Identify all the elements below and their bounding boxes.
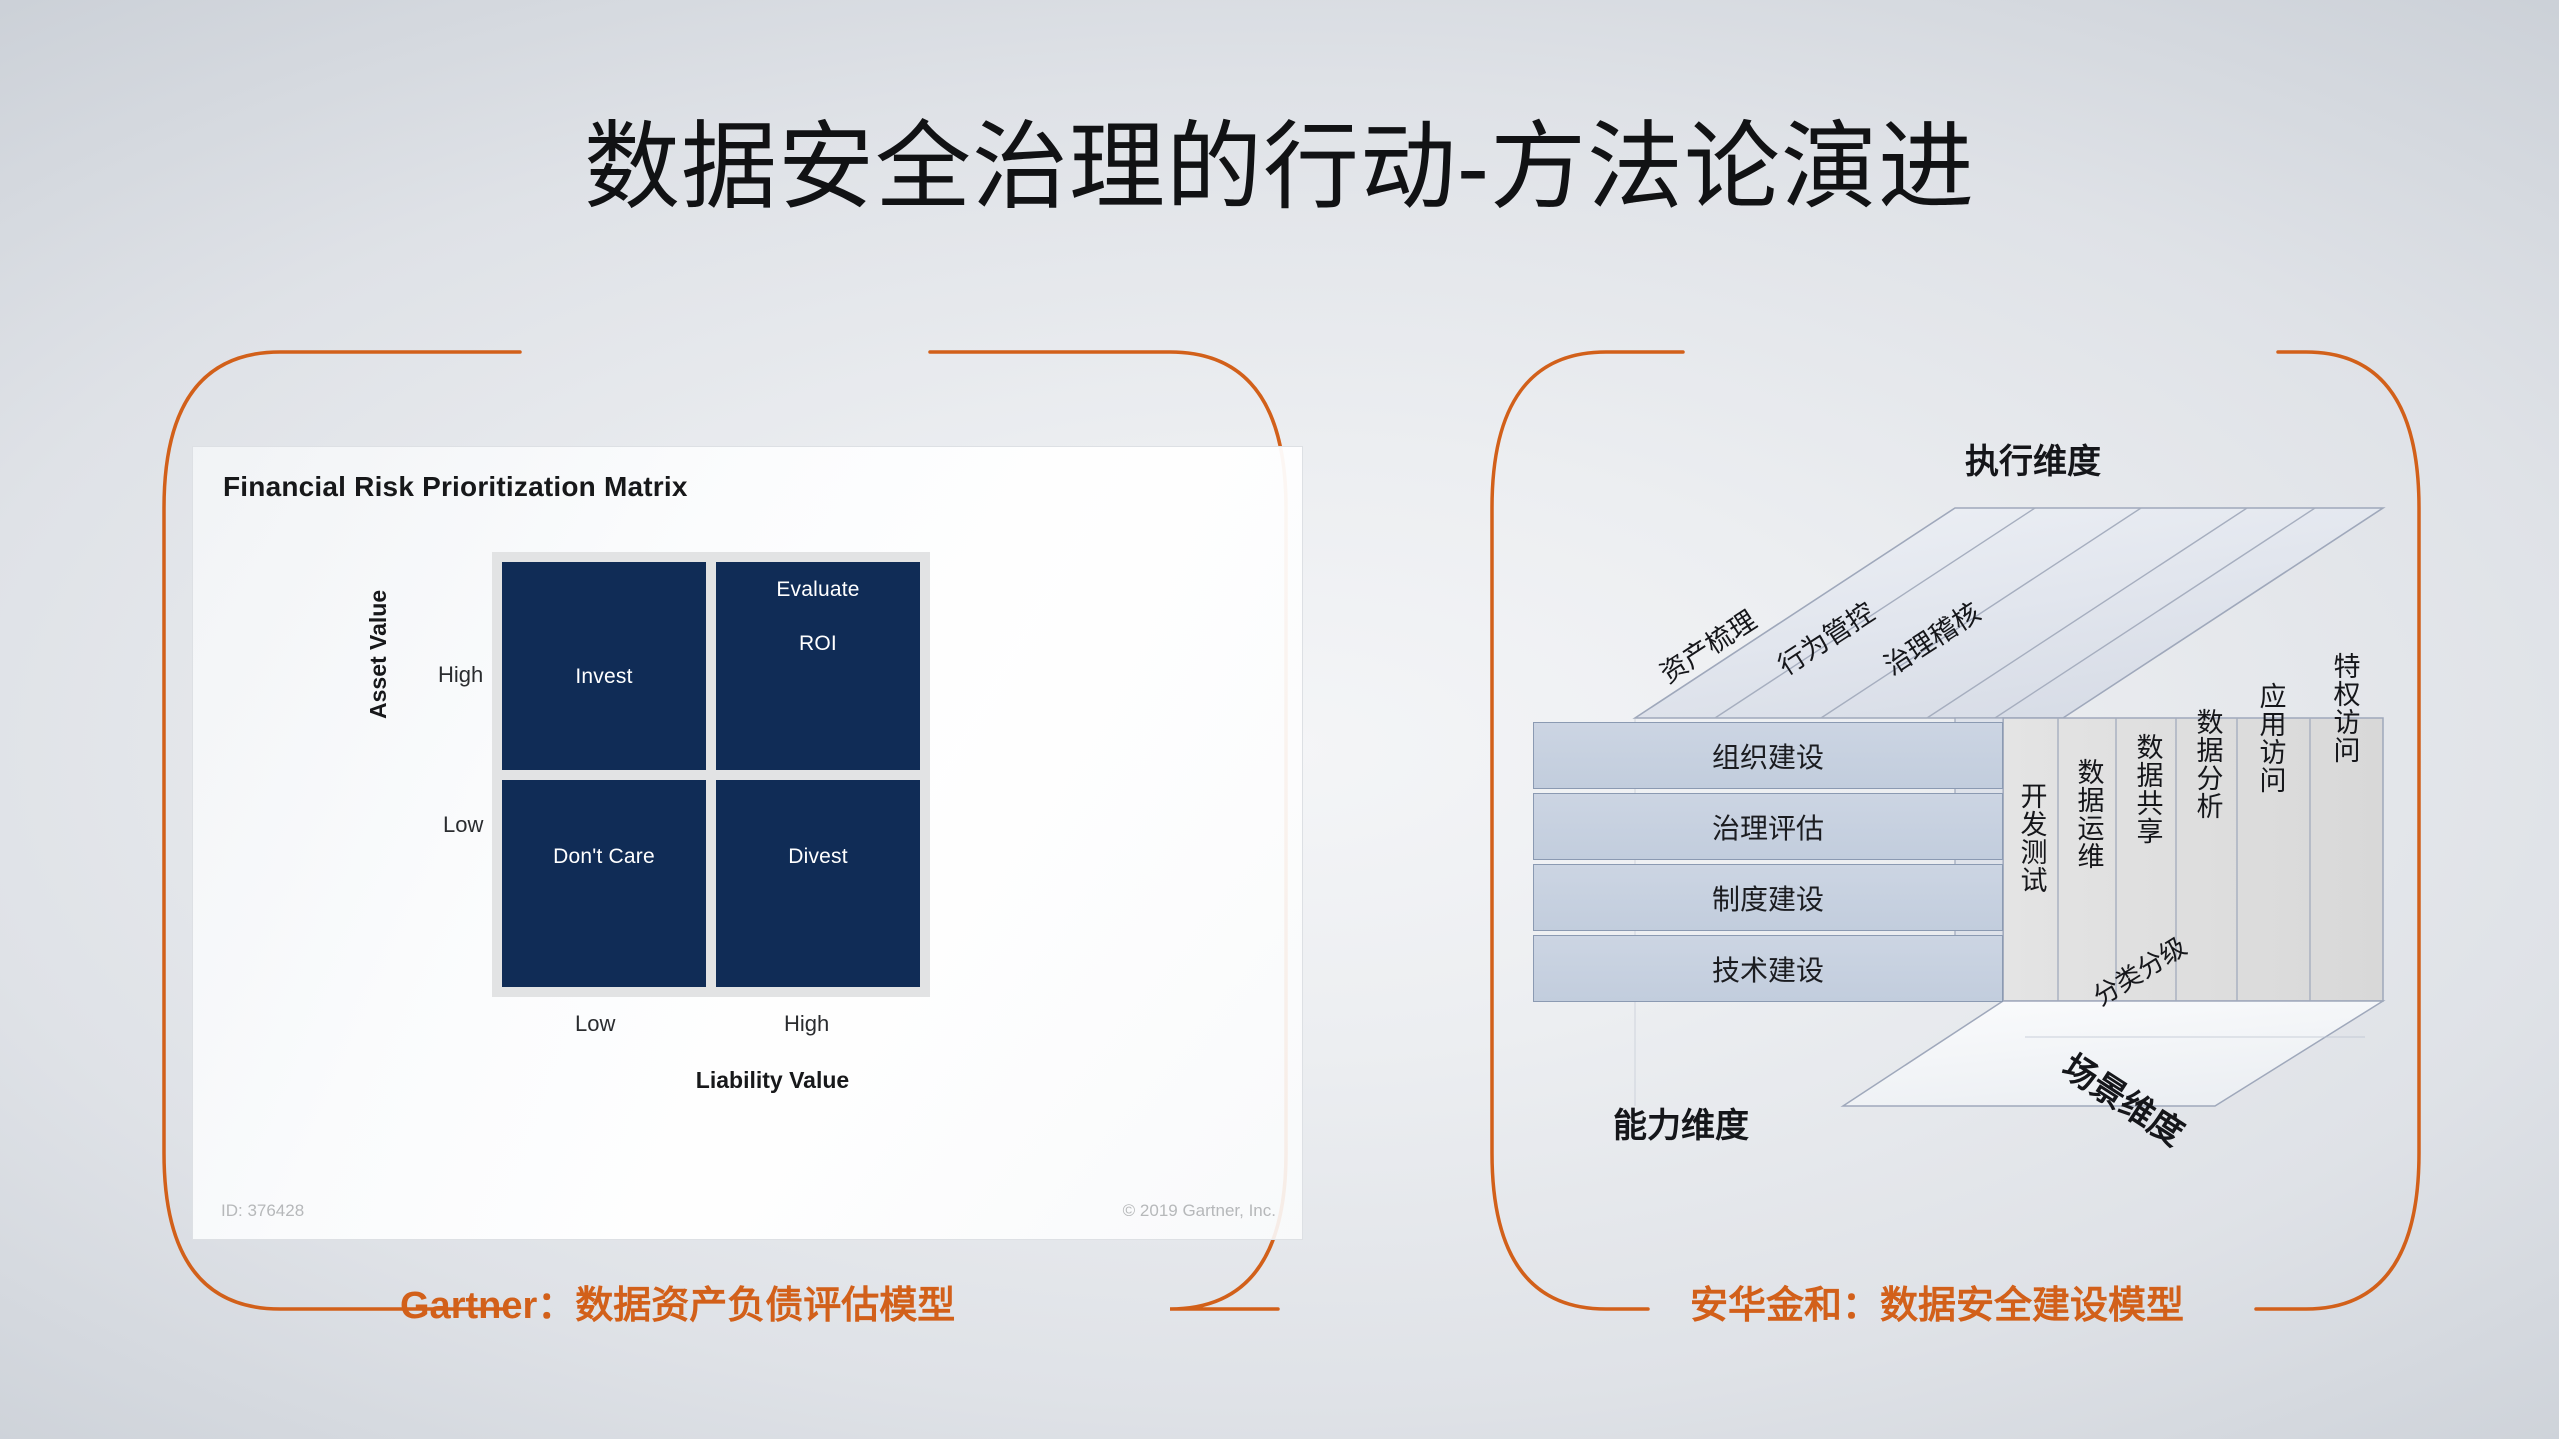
capability-block-3: 技术建设 bbox=[1533, 935, 2003, 1002]
capability-dimension-label: 能力维度 bbox=[1613, 1098, 1749, 1147]
quadrant-dont-care-label: Don't Care bbox=[553, 844, 655, 871]
matrix-copyright: © 2019 Gartner, Inc. bbox=[1123, 1201, 1276, 1221]
quadrant-evaluate-line1: Evaluate bbox=[776, 577, 859, 604]
matrix-quadrant-grid: Invest Evaluate ROI Don't Care Divest bbox=[492, 552, 930, 997]
y-axis-tick-high: High bbox=[438, 662, 483, 688]
quadrant-divest-label: Divest bbox=[788, 844, 848, 871]
gartner-matrix-panel: Financial Risk Prioritization Matrix Hig… bbox=[192, 446, 1303, 1240]
scenario-label-1: 数据运维 bbox=[2074, 758, 2102, 870]
capability-block-2-label: 制度建设 bbox=[1712, 878, 1824, 918]
quadrant-divest: Divest bbox=[716, 780, 920, 988]
quadrant-evaluate-roi: Evaluate ROI bbox=[716, 562, 920, 770]
matrix-id-text: ID: 376428 bbox=[221, 1201, 304, 1221]
scenario-label-5: 特权访问 bbox=[2330, 652, 2358, 764]
scenario-label-0: 开发测试 bbox=[2017, 782, 2045, 894]
data-security-cube-diagram: 组织建设 治理评估 制度建设 技术建设 开发测试 数据运维 数据共享 数据分析 … bbox=[1525, 400, 2415, 1200]
left-panel-caption: Gartner：数据资产负债评估模型 bbox=[400, 1274, 955, 1329]
slide-title: 数据安全治理的行动-方法论演进 bbox=[0, 118, 2559, 219]
x-axis-title: Liability Value bbox=[193, 1067, 1302, 1094]
y-axis-tick-low: Low bbox=[443, 812, 483, 838]
right-panel-caption: 安华金和：数据安全建设模型 bbox=[1690, 1274, 2184, 1329]
capability-block-0-label: 组织建设 bbox=[1712, 736, 1824, 776]
x-axis-tick-high: High bbox=[784, 1011, 829, 1037]
scenario-label-3: 数据分析 bbox=[2193, 708, 2221, 820]
y-axis-title: Asset Value bbox=[365, 590, 392, 719]
execution-dimension-label: 执行维度 bbox=[1965, 434, 2101, 483]
x-axis-tick-low: Low bbox=[575, 1011, 615, 1037]
scenario-label-2: 数据共享 bbox=[2133, 733, 2161, 845]
capability-block-1-label: 治理评估 bbox=[1712, 807, 1824, 847]
quadrant-invest: Invest bbox=[502, 562, 706, 770]
matrix-chart-title: Financial Risk Prioritization Matrix bbox=[223, 471, 688, 503]
capability-block-2: 制度建设 bbox=[1533, 864, 2003, 931]
capability-block-0: 组织建设 bbox=[1533, 722, 2003, 789]
capability-block-1: 治理评估 bbox=[1533, 793, 2003, 860]
quadrant-invest-label: Invest bbox=[575, 664, 632, 691]
quadrant-evaluate-roi-label: Evaluate ROI bbox=[776, 601, 859, 682]
quadrant-dont-care: Don't Care bbox=[502, 780, 706, 988]
scenario-label-4: 应用访问 bbox=[2256, 682, 2284, 794]
capability-block-3-label: 技术建设 bbox=[1712, 949, 1824, 989]
quadrant-evaluate-line2: ROI bbox=[776, 631, 859, 658]
